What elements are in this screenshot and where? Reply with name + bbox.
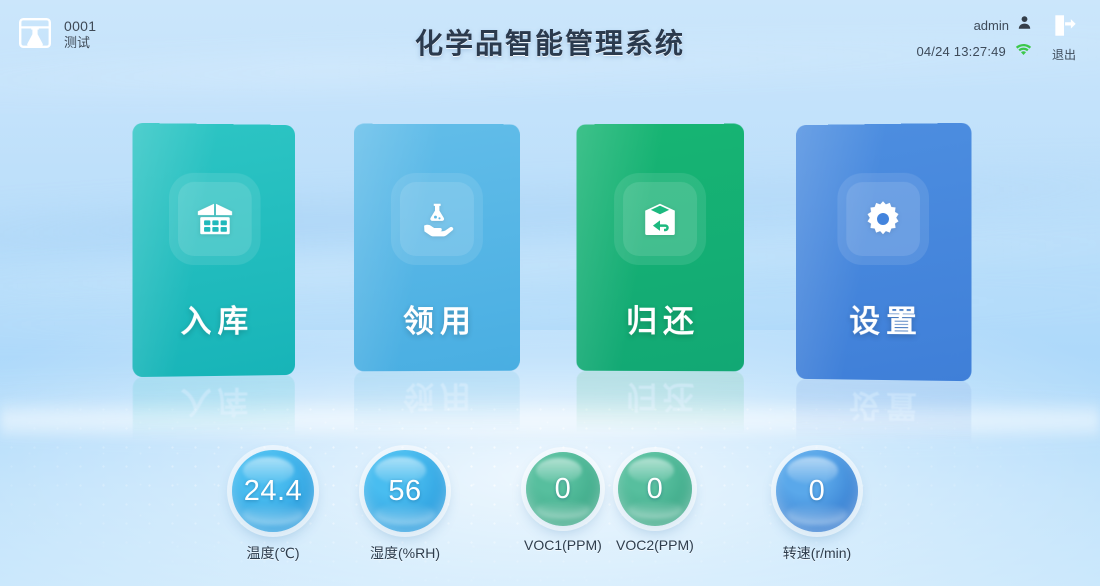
gauge-value: 0 <box>809 475 826 508</box>
gauge-label: VOC2(PPM) <box>616 537 694 553</box>
gauge-voc1: 0 VOC1(PPM) <box>524 452 602 553</box>
reflection-label: 归还 <box>576 377 744 423</box>
gear-icon <box>846 182 920 256</box>
menu-card-label: 设置 <box>843 296 923 342</box>
gauge-label: 温度(℃) <box>246 543 299 563</box>
menu-card-reflection: 归还 <box>576 371 744 434</box>
return-box-icon <box>623 182 697 256</box>
reflection-label: 设置 <box>796 385 971 433</box>
menu-card-return[interactable]: 归还 归还 <box>576 124 744 372</box>
gauge-orb: 0 <box>776 450 858 532</box>
menu-card-reflection: 入库 <box>133 375 295 440</box>
menu-card-reflection: 领用 <box>354 371 520 434</box>
reflection-label: 入库 <box>133 381 295 429</box>
gauge-orb: 0 <box>618 452 692 526</box>
menu-card-label: 入库 <box>175 296 255 342</box>
menu-card-settings[interactable]: 设置 设置 <box>796 123 971 381</box>
gauge-value: 56 <box>388 475 421 508</box>
gauge-orb: 0 <box>526 452 600 526</box>
warehouse-icon <box>178 182 252 256</box>
menu-card-surface[interactable]: 归还 <box>576 124 744 372</box>
gauge-label: 湿度(%RH) <box>370 543 440 563</box>
menu-card-surface[interactable]: 入库 <box>133 123 295 377</box>
gauge-orb: 24.4 <box>232 450 314 532</box>
gauge-temperature: 24.4 温度(℃) <box>232 450 314 563</box>
menu-card-reflection: 设置 <box>796 379 971 444</box>
menu-card-label: 领用 <box>397 296 477 341</box>
gauge-voc2: 0 VOC2(PPM) <box>616 452 694 553</box>
menu-card-requisition[interactable]: 领用 领用 <box>354 124 520 372</box>
reflection-fill <box>796 379 971 444</box>
hand-flask-icon <box>400 182 474 256</box>
reflection-fill <box>133 375 295 440</box>
gauge-value: 24.4 <box>244 475 302 508</box>
reflection-fill <box>354 371 520 434</box>
gauge-value: 0 <box>647 473 664 506</box>
reflection-label: 领用 <box>354 377 520 423</box>
menu-card-inbound[interactable]: 入库 入库 <box>133 123 295 377</box>
menu-card-label: 归还 <box>620 296 700 341</box>
menu-card-surface[interactable]: 领用 <box>354 124 520 372</box>
gauge-humidity: 56 湿度(%RH) <box>364 450 446 563</box>
reflection-fill <box>576 371 744 434</box>
gauge-label: VOC1(PPM) <box>524 537 602 553</box>
gauge-orb: 56 <box>364 450 446 532</box>
gauge-rotation-speed: 0 转速(r/min) <box>776 450 858 563</box>
gauge-value: 0 <box>555 473 572 506</box>
gauge-label: 转速(r/min) <box>783 543 851 563</box>
menu-card-surface[interactable]: 设置 <box>796 123 971 381</box>
sensor-gauge-row: 24.4 温度(℃) 56 湿度(%RH) 0 VOC1(PPM) 0 VOC2… <box>0 440 1100 560</box>
